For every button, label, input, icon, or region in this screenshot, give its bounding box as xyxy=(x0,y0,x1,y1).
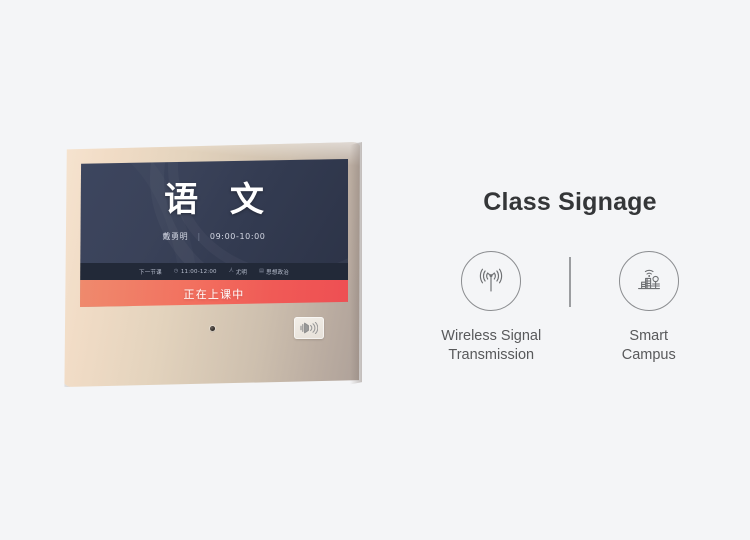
screen-main-area: 语 文 戴勇明 | 09:00-10:00 xyxy=(80,159,348,263)
next-class-teacher: 尤明 xyxy=(236,268,247,276)
next-class-subject: 思想政治 xyxy=(266,268,289,276)
feature-icon-circle xyxy=(461,251,521,311)
class-signage-device: 语 文 戴勇明 | 09:00-10:00 下一节课 ◷ 11:00-12:00… xyxy=(62,142,362,387)
feature-label-smart-campus: Smart Campus xyxy=(622,327,676,364)
next-class-label: 下一节课 xyxy=(139,268,162,276)
wireless-antenna-icon xyxy=(474,264,508,298)
meta-separator: | xyxy=(197,232,200,241)
class-meta: 戴勇明 | 09:00-10:00 xyxy=(80,231,348,242)
feature-smart-campus[interactable]: Smart Campus xyxy=(581,251,717,364)
page-title: Class Signage xyxy=(420,190,720,215)
class-time-range: 09:00-10:00 xyxy=(210,232,266,241)
person-icon: 人 xyxy=(229,269,234,274)
subject-title: 语 文 xyxy=(80,183,348,217)
status-badge: 正在上课中 xyxy=(184,286,245,302)
next-class-info-bar: 下一节课 ◷ 11:00-12:00 人 尤明 ▤ 思想政治 xyxy=(80,263,348,280)
book-icon: ▤ xyxy=(259,269,264,274)
speaker-icon[interactable] xyxy=(294,317,324,339)
feature-row: Wireless Signal Transmission xyxy=(420,251,720,364)
clock-icon: ◷ xyxy=(174,269,179,274)
smart-campus-icon xyxy=(632,264,666,298)
page-stage: 语 文 戴勇明 | 09:00-10:00 下一节课 ◷ 11:00-12:00… xyxy=(0,0,750,540)
feature-label-wireless-signal: Wireless Signal Transmission xyxy=(441,327,541,364)
info-item-next-time: ◷ 11:00-12:00 xyxy=(174,269,217,275)
device-screen[interactable]: 语 文 戴勇明 | 09:00-10:00 下一节课 ◷ 11:00-12:00… xyxy=(80,159,348,307)
feature-wireless-signal[interactable]: Wireless Signal Transmission xyxy=(423,251,559,364)
feature-panel: Class Signage xyxy=(420,190,720,364)
teacher-name: 戴勇明 xyxy=(162,232,188,241)
info-item-next-class: 下一节课 xyxy=(139,268,162,276)
feature-icon-circle xyxy=(619,251,679,311)
next-class-time: 11:00-12:00 xyxy=(181,269,217,275)
sensor-dot xyxy=(210,326,215,331)
info-item-next-subject: ▤ 思想政治 xyxy=(259,268,289,276)
info-item-next-teacher: 人 尤明 xyxy=(229,268,247,276)
feature-divider xyxy=(569,257,571,307)
